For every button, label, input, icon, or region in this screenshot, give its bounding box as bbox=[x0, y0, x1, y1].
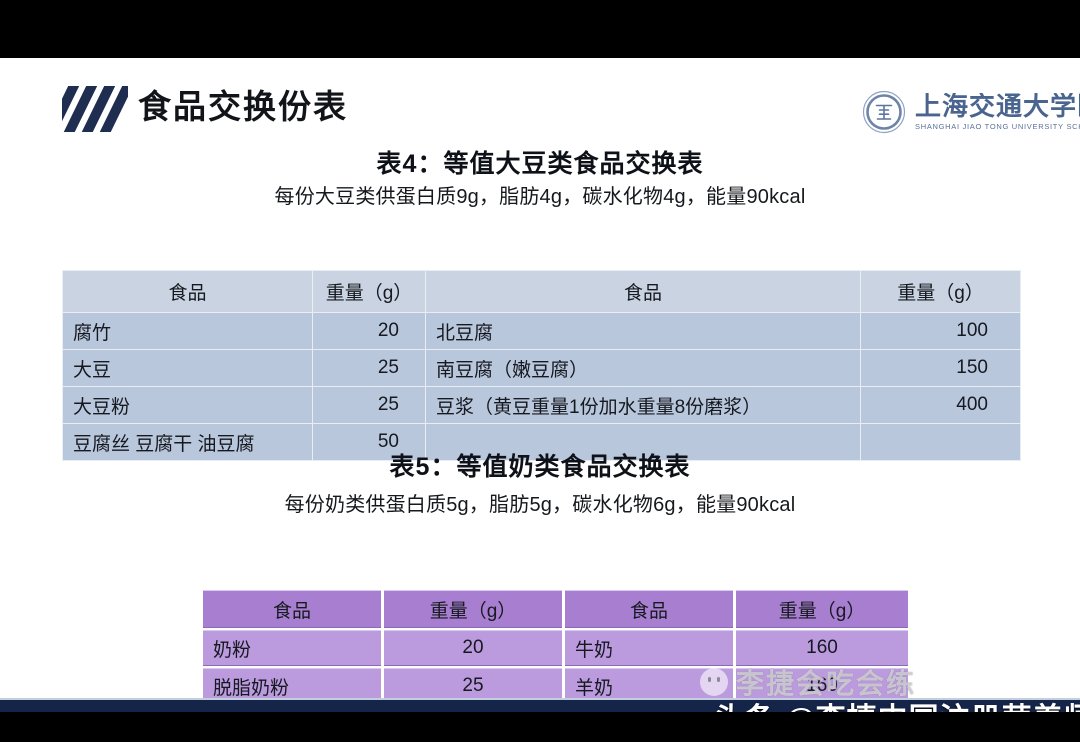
cell-food-right: 羊奶 bbox=[565, 668, 733, 698]
cell-food-right: 牛奶 bbox=[565, 630, 733, 666]
soy-exchange-table: 食品 重量（g） 食品 重量（g） 腐竹 20 北豆腐 100 大豆 25 南豆… bbox=[62, 270, 1021, 461]
table-row: 大豆粉 25 豆浆（黄豆重量1份加水重量8份磨浆） 400 bbox=[63, 387, 1021, 424]
presentation-slide: 食品交换份表 上海交通大学医 SHANGHAI JIAO TONG UNIVER… bbox=[0, 58, 1080, 698]
cell-food-left: 大豆粉 bbox=[63, 387, 313, 424]
column-header-weight-left: 重量（g） bbox=[384, 590, 562, 628]
cell-weight-left: 25 bbox=[313, 387, 426, 424]
page-title: 食品交换份表 bbox=[138, 84, 348, 130]
cell-weight-left: 25 bbox=[313, 350, 426, 387]
screenshot-root: 食品交换份表 上海交通大学医 SHANGHAI JIAO TONG UNIVER… bbox=[0, 0, 1080, 742]
university-seal-icon bbox=[862, 90, 906, 134]
column-header-food-left: 食品 bbox=[63, 271, 313, 313]
university-logo: 上海交通大学医 SHANGHAI JIAO TONG UNIVERSITY SC… bbox=[862, 88, 1080, 136]
column-header-weight-left: 重量（g） bbox=[313, 271, 426, 313]
cell-weight-right: 160 bbox=[736, 630, 908, 666]
letterbox-top bbox=[0, 0, 1080, 58]
column-header-weight-right: 重量（g） bbox=[736, 590, 908, 628]
column-header-food-right: 食品 bbox=[426, 271, 861, 313]
slide-header: 食品交换份表 上海交通大学医 SHANGHAI JIAO TONG UNIVER… bbox=[0, 84, 1080, 146]
cell-food-left: 腐竹 bbox=[63, 313, 313, 350]
university-name-cn: 上海交通大学医 bbox=[915, 93, 1080, 121]
column-header-food-right: 食品 bbox=[565, 590, 733, 628]
cell-food-right: 北豆腐 bbox=[426, 313, 861, 350]
milk-table-subtitle: 每份奶类供蛋白质5g，脂肪5g，碳水化物6g，能量90kcal bbox=[0, 488, 1080, 517]
cell-weight-right: 100 bbox=[861, 313, 1021, 350]
table-row: 腐竹 20 北豆腐 100 bbox=[63, 313, 1021, 350]
letterbox-bottom bbox=[0, 712, 1080, 742]
cell-weight-left: 20 bbox=[384, 630, 562, 666]
cell-food-right: 南豆腐（嫩豆腐） bbox=[426, 350, 861, 387]
university-logo-text: 上海交通大学医 SHANGHAI JIAO TONG UNIVERSITY SC… bbox=[915, 93, 1080, 131]
cell-food-left: 大豆 bbox=[63, 350, 313, 387]
cell-food-right: 豆浆（黄豆重量1份加水重量8份磨浆） bbox=[426, 387, 861, 424]
cell-food-left: 奶粉 bbox=[203, 630, 381, 666]
cell-weight-right: 400 bbox=[861, 387, 1021, 424]
soy-table-title: 表4：等值大豆类食品交换表 bbox=[0, 144, 1080, 180]
table-row: 奶粉 20 牛奶 160 bbox=[203, 630, 908, 666]
cell-weight-left: 20 bbox=[313, 313, 426, 350]
milk-table-title: 表5：等值奶类食品交换表 bbox=[0, 447, 1080, 483]
university-name-en: SHANGHAI JIAO TONG UNIVERSITY SCHOOL O bbox=[915, 122, 1080, 131]
column-header-food-left: 食品 bbox=[203, 590, 381, 628]
table-row: 大豆 25 南豆腐（嫩豆腐） 150 bbox=[63, 350, 1021, 387]
cell-weight-left: 25 bbox=[384, 668, 562, 698]
cell-weight-right: 150 bbox=[861, 350, 1021, 387]
soy-table-subtitle: 每份大豆类供蛋白质9g，脂肪4g，碳水化物4g，能量90kcal bbox=[0, 180, 1080, 209]
table-header-row: 食品 重量（g） 食品 重量（g） bbox=[63, 271, 1021, 313]
milk-exchange-table: 食品 重量（g） 食品 重量（g） 奶粉 20 牛奶 160 脱脂奶粉 25 羊… bbox=[200, 588, 911, 698]
diagonal-stripes-icon bbox=[62, 86, 128, 132]
table-header-row: 食品 重量（g） 食品 重量（g） bbox=[203, 590, 908, 628]
column-header-weight-right: 重量（g） bbox=[861, 271, 1021, 313]
cell-food-left: 脱脂奶粉 bbox=[203, 668, 381, 698]
